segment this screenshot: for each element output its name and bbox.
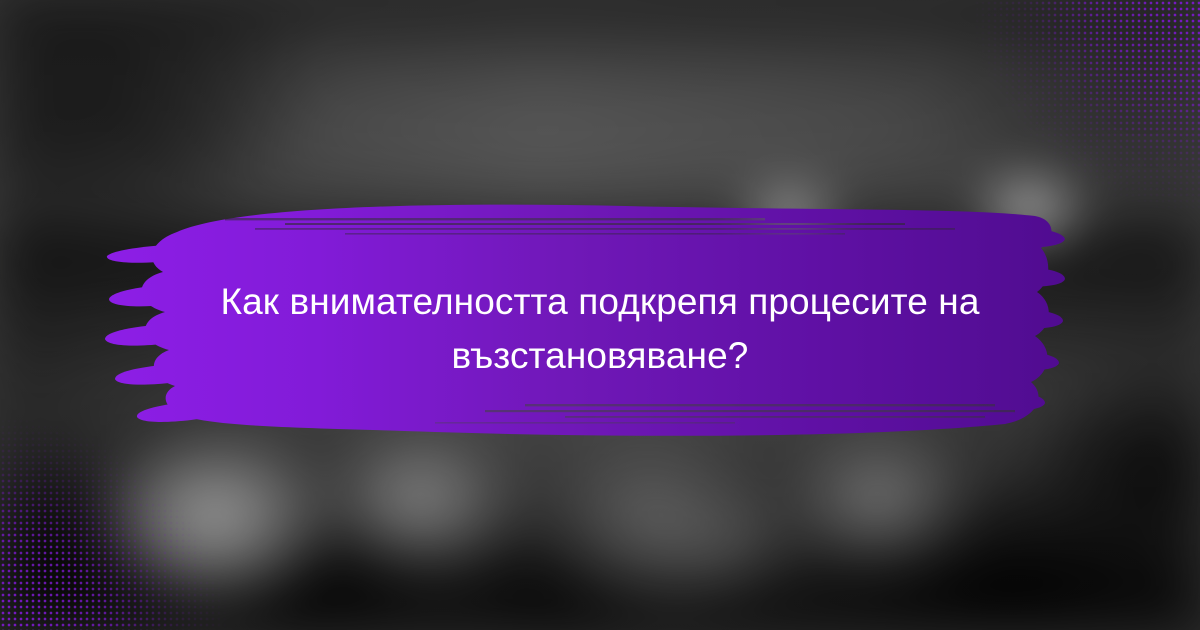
share-card-canvas: Как внимателността подкрепя процесите на…	[0, 0, 1200, 630]
headline-text: Как внимателността подкрепя процесите на…	[0, 275, 1200, 383]
